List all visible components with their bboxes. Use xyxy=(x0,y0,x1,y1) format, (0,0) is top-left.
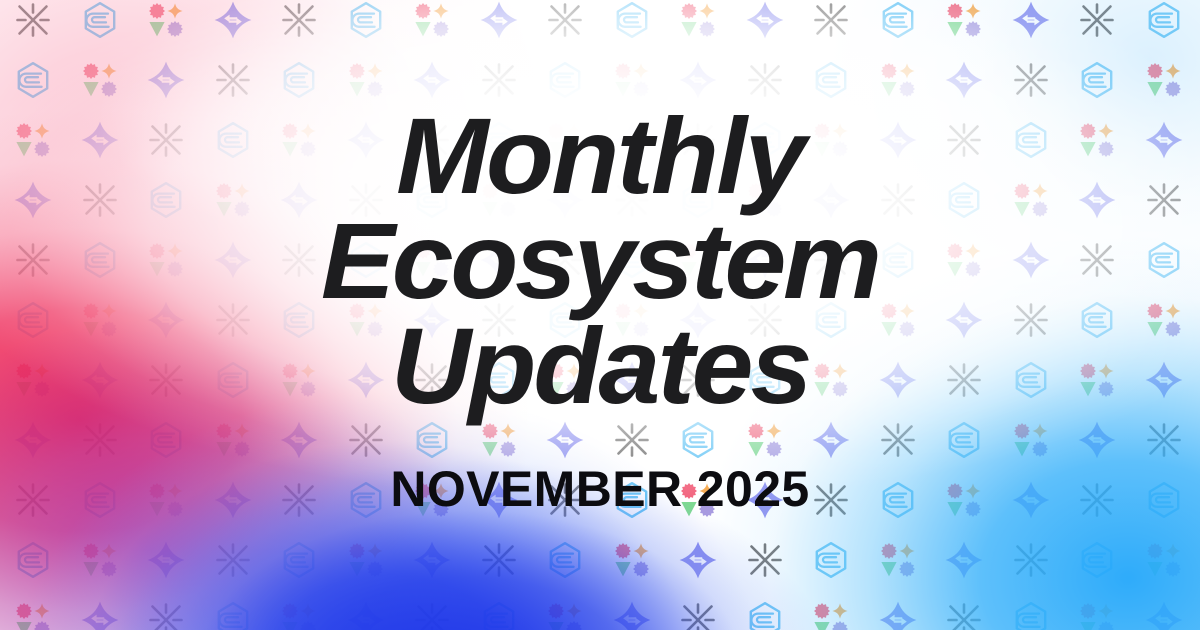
headline-line-1: Monthly xyxy=(396,104,804,209)
banner-card: Monthly Ecosystem Updates NOVEMBER 2025 xyxy=(0,0,1200,630)
subtitle-date: NOVEMBER 2025 xyxy=(390,460,809,518)
headline-line-3: Updates xyxy=(391,314,810,419)
headline-line-2: Ecosystem xyxy=(321,209,879,314)
text-layer: Monthly Ecosystem Updates NOVEMBER 2025 xyxy=(0,0,1200,630)
